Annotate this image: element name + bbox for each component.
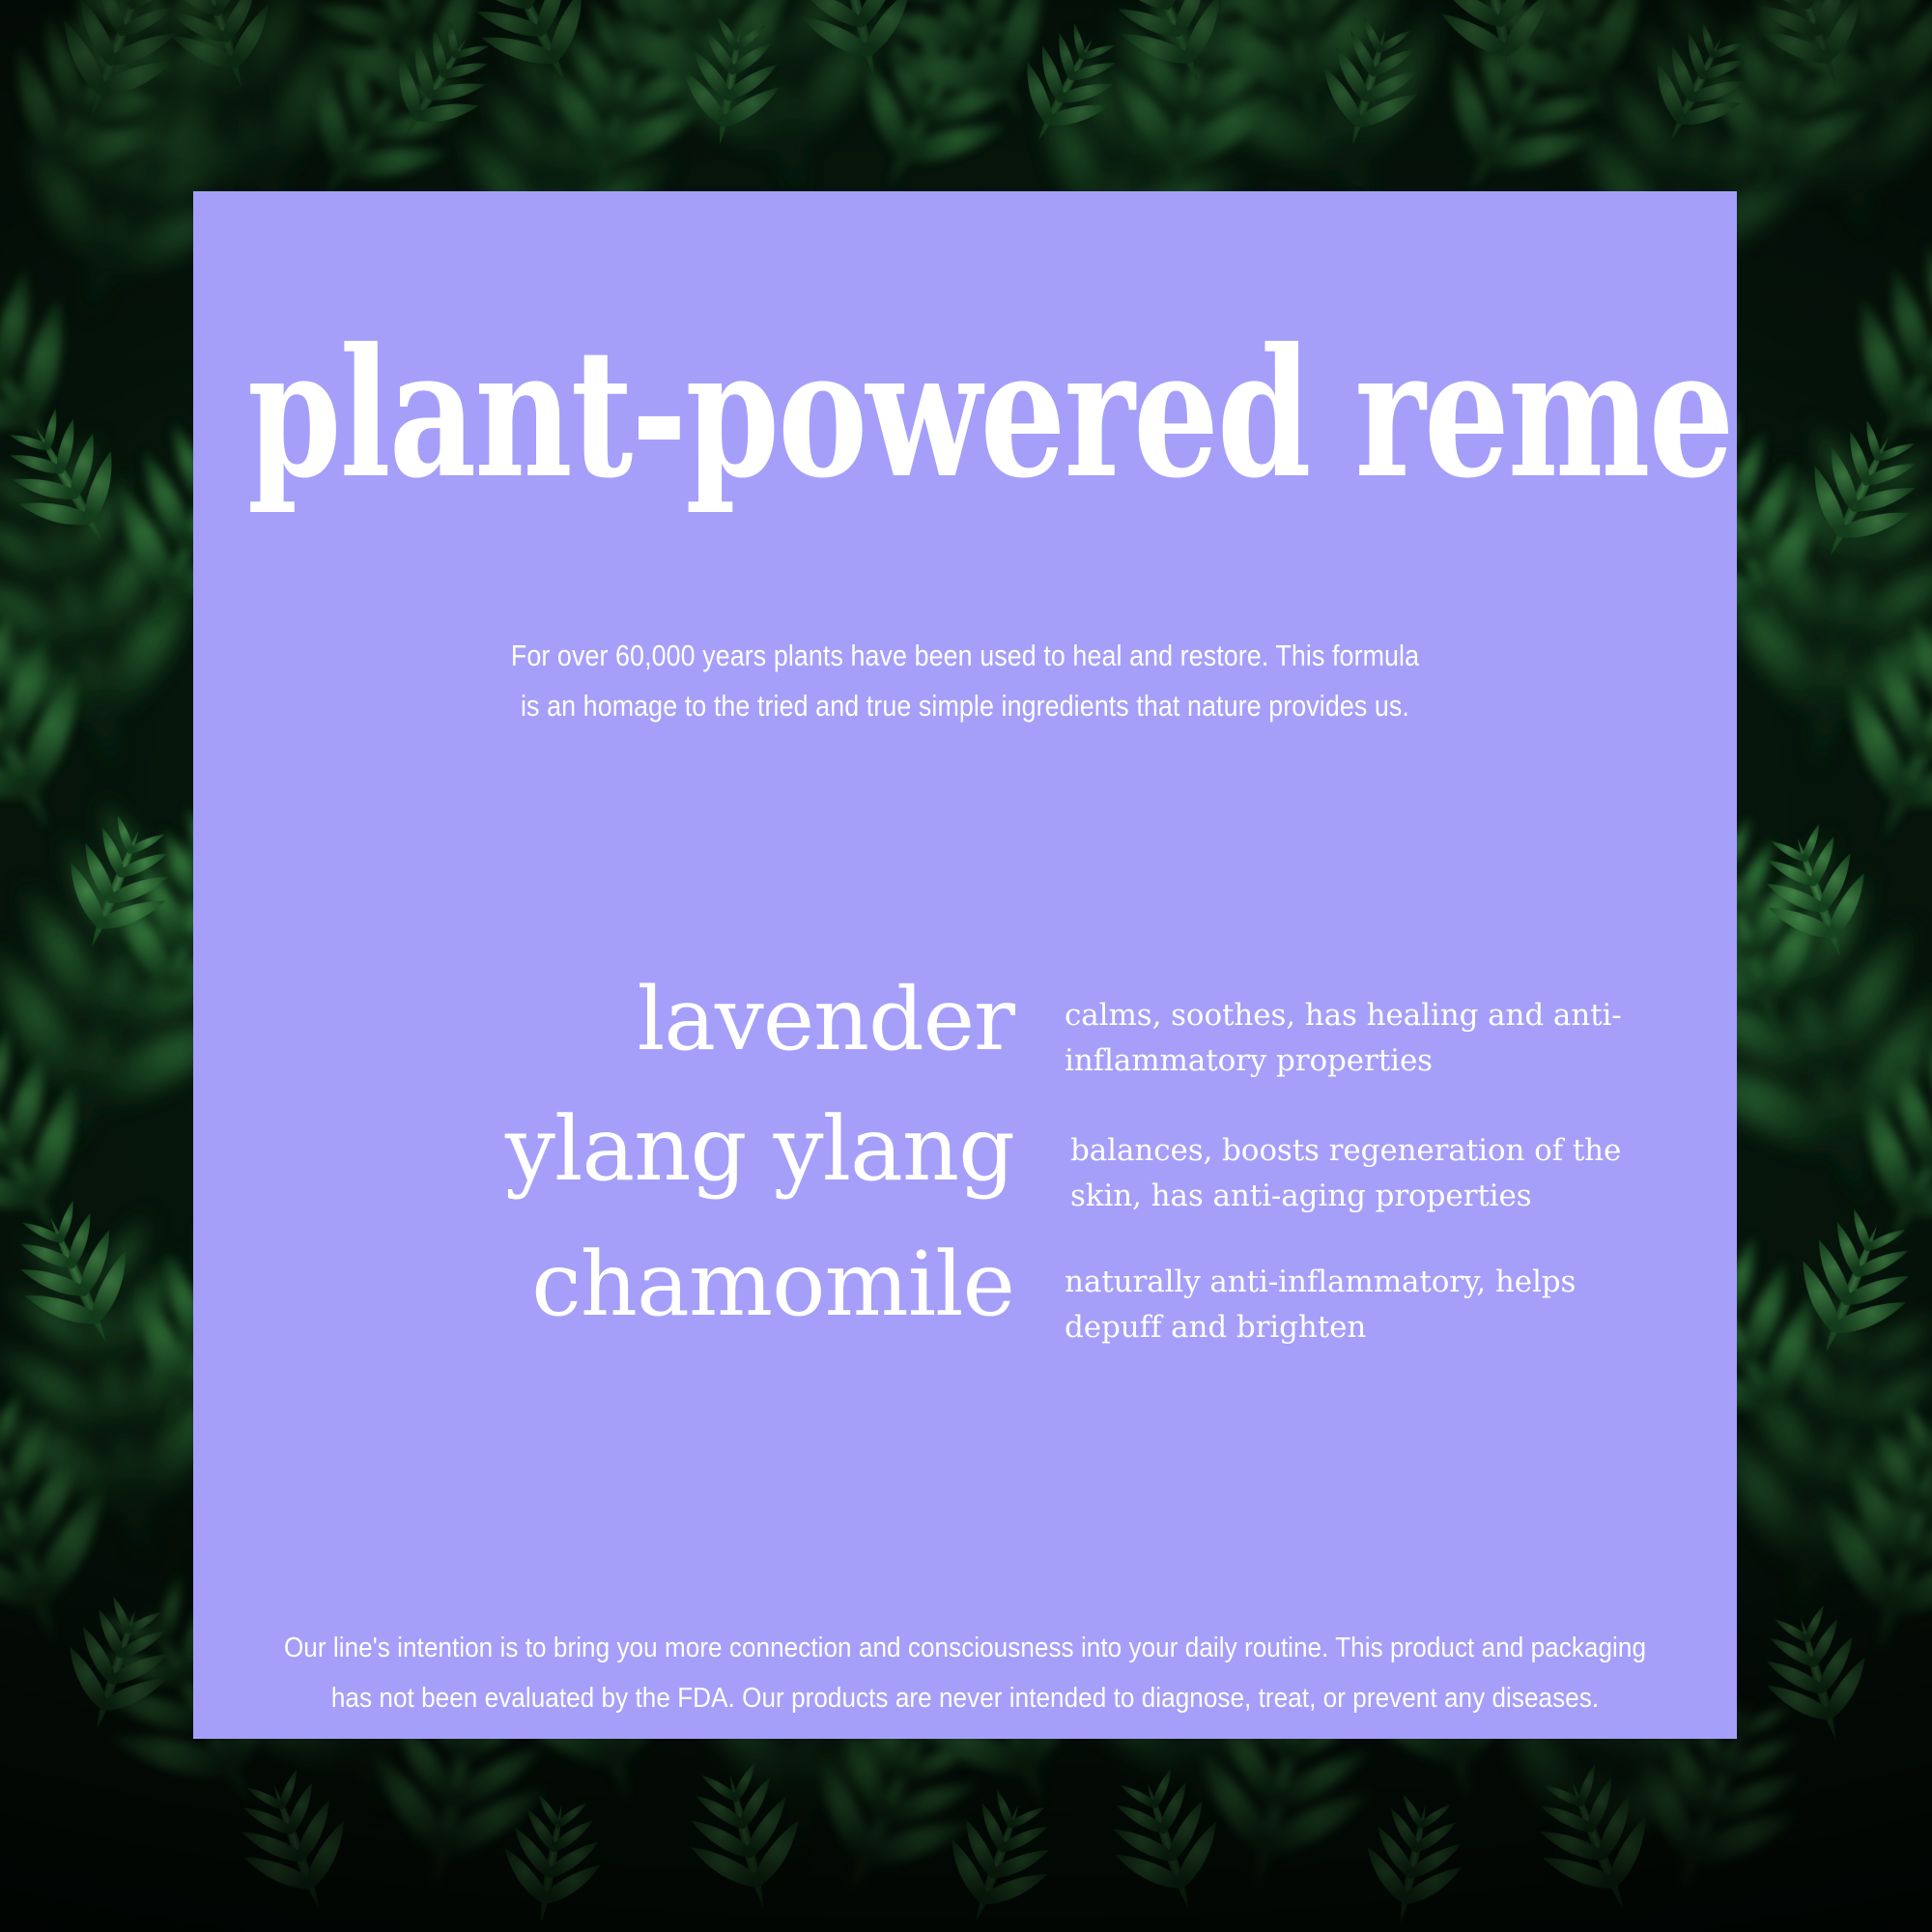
ingredient-description-chamomile-line-1: naturally anti-inflammatory, helps <box>1065 1260 1644 1305</box>
ingredient-row-chamomile: chamomile naturally anti-inflammatory, h… <box>193 1229 1737 1350</box>
page-title: plant-powered remedies <box>247 326 1683 502</box>
ingredient-name-ylang-ylang: ylang ylang <box>193 1094 1014 1206</box>
ingredient-description-lavender: calms, soothes, has healing and anti- in… <box>1065 964 1644 1084</box>
ingredient-name-lavender: lavender <box>193 964 1014 1076</box>
ingredient-list: lavender calms, soothes, has healing and… <box>193 964 1737 1360</box>
intro-paragraph: For over 60,000 years plants have been u… <box>438 631 1492 731</box>
ingredient-description-ylang-ylang: balances, boosts regeneration of the ski… <box>1070 1094 1650 1219</box>
intro-line-2: is an homage to the tried and true simpl… <box>438 681 1492 731</box>
ingredient-description-chamomile: naturally anti-inflammatory, helps depuf… <box>1065 1229 1644 1350</box>
ingredient-row-ylang-ylang: ylang ylang balances, boosts regeneratio… <box>193 1094 1737 1219</box>
legal-disclaimer: Our line's intention is to bring you mor… <box>274 1623 1657 1723</box>
ingredient-name-chamomile: chamomile <box>193 1229 1014 1341</box>
ingredient-description-lavender-line-2: inflammatory properties <box>1065 1038 1644 1084</box>
intro-line-1: For over 60,000 years plants have been u… <box>438 631 1492 681</box>
ingredient-description-ylang-ylang-line-1: balances, boosts regeneration of the <box>1070 1128 1650 1174</box>
legal-disclaimer-line-2: has not been evaluated by the FDA. Our p… <box>274 1673 1657 1723</box>
ingredient-description-chamomile-line-2: depuff and brighten <box>1065 1305 1644 1350</box>
product-info-card: plant-powered remedies For over 60,000 y… <box>193 191 1737 1739</box>
poster-canvas: plant-powered remedies For over 60,000 y… <box>0 0 1932 1932</box>
ingredient-description-ylang-ylang-line-2: skin, has anti-aging properties <box>1070 1174 1650 1219</box>
ingredient-row-lavender: lavender calms, soothes, has healing and… <box>193 964 1737 1084</box>
ingredient-description-lavender-line-1: calms, soothes, has healing and anti- <box>1065 993 1644 1038</box>
legal-disclaimer-line-1: Our line's intention is to bring you mor… <box>274 1623 1657 1673</box>
